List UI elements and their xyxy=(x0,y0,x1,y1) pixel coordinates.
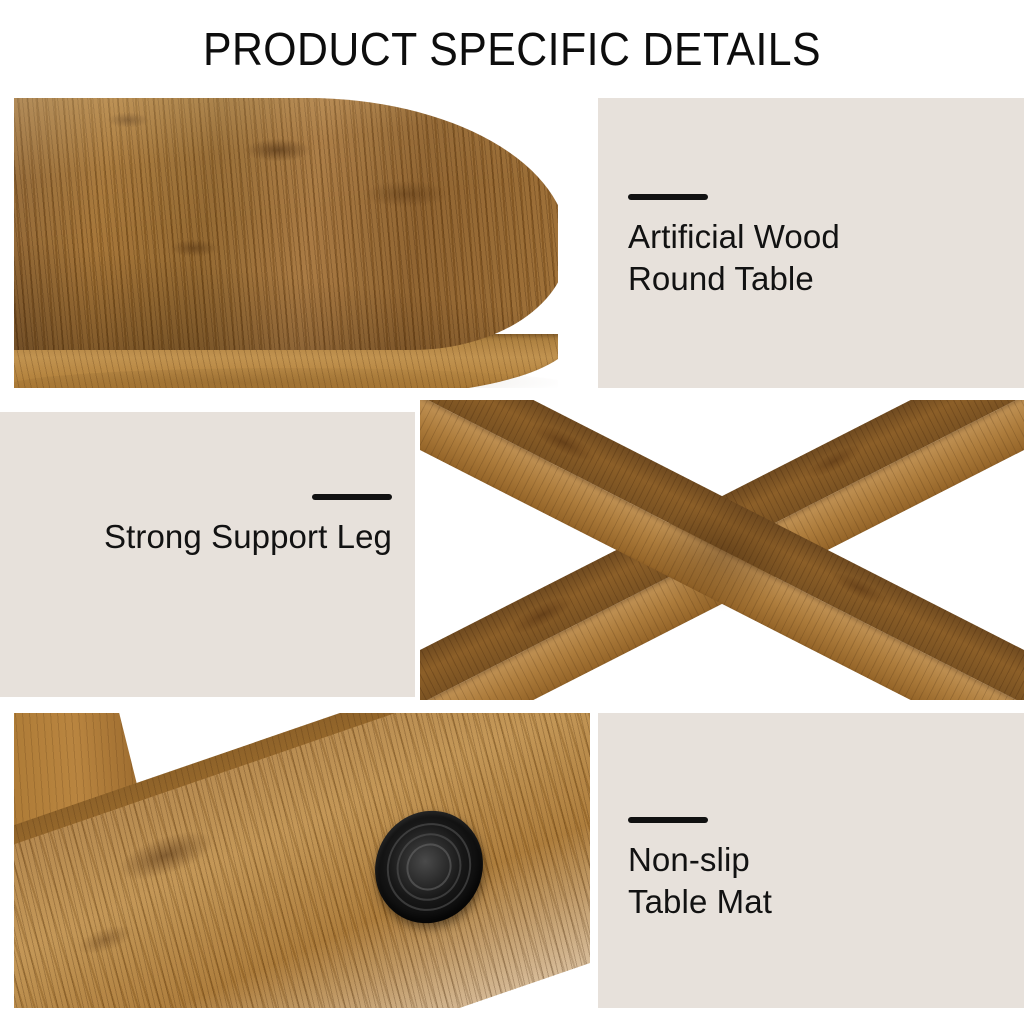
page-title: PRODUCT SPECIFIC DETAILS xyxy=(36,22,988,76)
feature-caption-panel-strong-support-leg: Strong Support Leg xyxy=(0,412,415,697)
caption-dash-icon xyxy=(628,817,708,823)
feature-photo-strong-support-leg xyxy=(420,400,1024,700)
caption-text-artificial-wood-round-table: Artificial Wood Round Table xyxy=(628,216,968,300)
non-slip-mat-illustration xyxy=(14,713,590,1008)
feature-caption-panel-artificial-wood-round-table: Artificial Wood Round Table xyxy=(598,98,1024,388)
tabletop-sheen xyxy=(14,98,558,350)
caption-text-non-slip-table-mat: Non-slip Table Mat xyxy=(628,839,968,923)
caption-dash-icon xyxy=(628,194,708,200)
caption-text-strong-support-leg: Strong Support Leg xyxy=(24,516,392,558)
caption-block-artificial-wood-round-table: Artificial Wood Round Table xyxy=(628,194,968,300)
cross-leg-illustration xyxy=(420,400,1024,700)
tabletop-illustration xyxy=(14,98,558,388)
feature-photo-artificial-wood-round-table xyxy=(14,98,558,388)
caption-dash-icon xyxy=(312,494,392,500)
caption-block-strong-support-leg: Strong Support Leg xyxy=(24,494,392,558)
caption-block-non-slip-table-mat: Non-slip Table Mat xyxy=(628,817,968,923)
feature-photo-non-slip-table-mat xyxy=(14,713,590,1008)
feature-caption-panel-non-slip-table-mat: Non-slip Table Mat xyxy=(598,713,1024,1008)
